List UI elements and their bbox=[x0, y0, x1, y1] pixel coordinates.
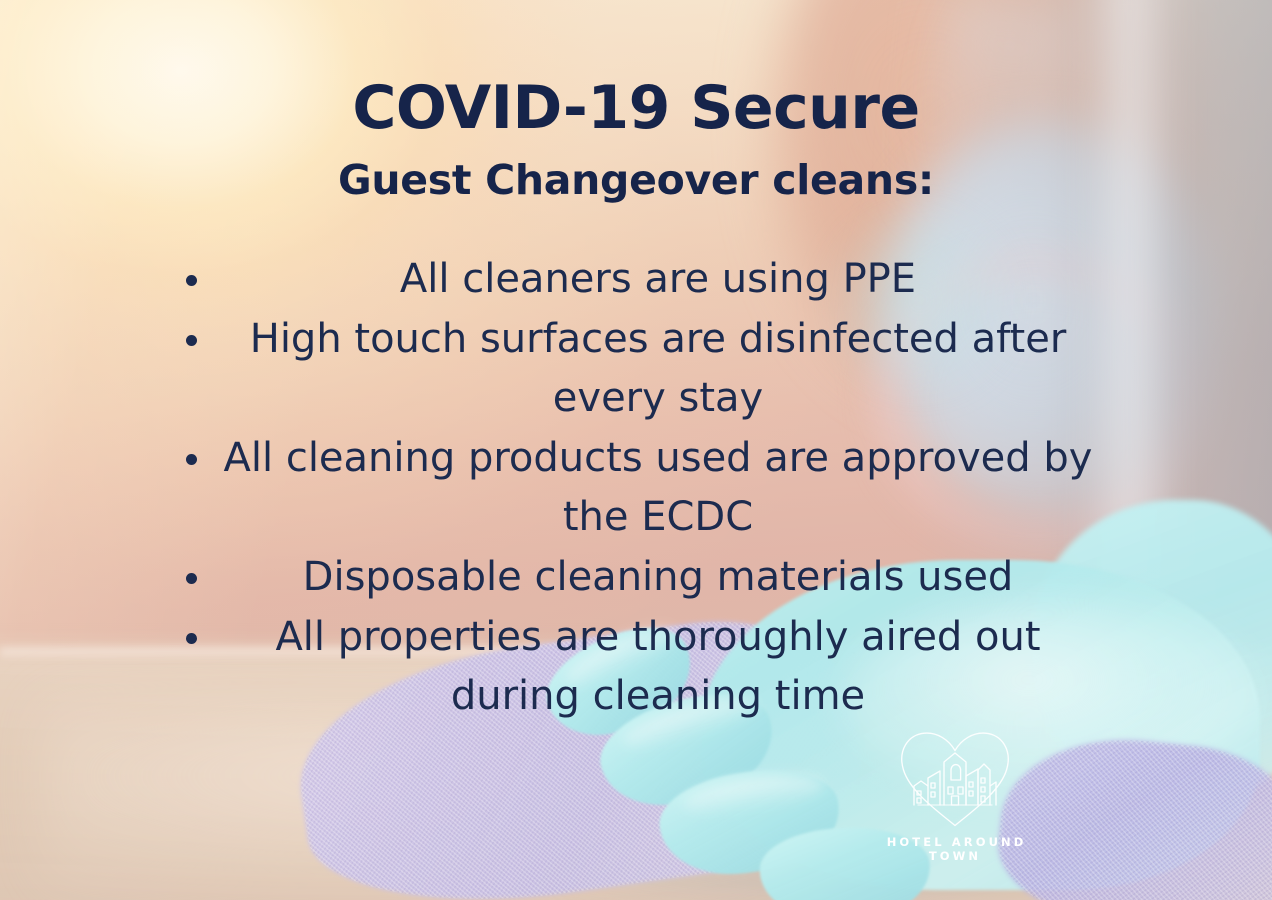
list-item: Disposable cleaning materials used bbox=[170, 548, 1110, 607]
bullet-dot-icon bbox=[186, 633, 197, 644]
list-item: All properties are thoroughly aired out … bbox=[170, 608, 1110, 726]
list-item-label: Disposable cleaning materials used bbox=[303, 554, 1014, 600]
brand-wordmark: HOTEL AROUND TOWN bbox=[862, 835, 1048, 863]
measures-list: All cleaners are using PPE High touch su… bbox=[170, 250, 1110, 727]
list-item-label: All cleaning products used are approved … bbox=[224, 435, 1093, 540]
list-item: All cleaning products used are approved … bbox=[170, 429, 1110, 547]
list-item-label: All properties are thoroughly aired out … bbox=[275, 614, 1040, 719]
heart-with-townscape-icon bbox=[896, 726, 1014, 830]
covid-secure-poster: COVID-19 Secure Guest Changeover cleans:… bbox=[0, 0, 1272, 900]
bullet-dot-icon bbox=[186, 275, 197, 286]
page-title: COVID-19 Secure bbox=[0, 78, 1272, 138]
list-item-label: High touch surfaces are disinfected afte… bbox=[250, 316, 1067, 421]
list-item: All cleaners are using PPE bbox=[170, 250, 1110, 309]
bullet-dot-icon bbox=[186, 335, 197, 346]
page-subtitle: Guest Changeover cleans: bbox=[0, 158, 1272, 203]
bullet-dot-icon bbox=[186, 573, 197, 584]
poster-content: COVID-19 Secure Guest Changeover cleans:… bbox=[0, 0, 1272, 900]
brand-logo: HOTEL AROUND TOWN bbox=[862, 726, 1048, 863]
list-item-label: All cleaners are using PPE bbox=[400, 256, 916, 302]
list-item: High touch surfaces are disinfected afte… bbox=[170, 310, 1110, 428]
bullet-dot-icon bbox=[186, 454, 197, 465]
